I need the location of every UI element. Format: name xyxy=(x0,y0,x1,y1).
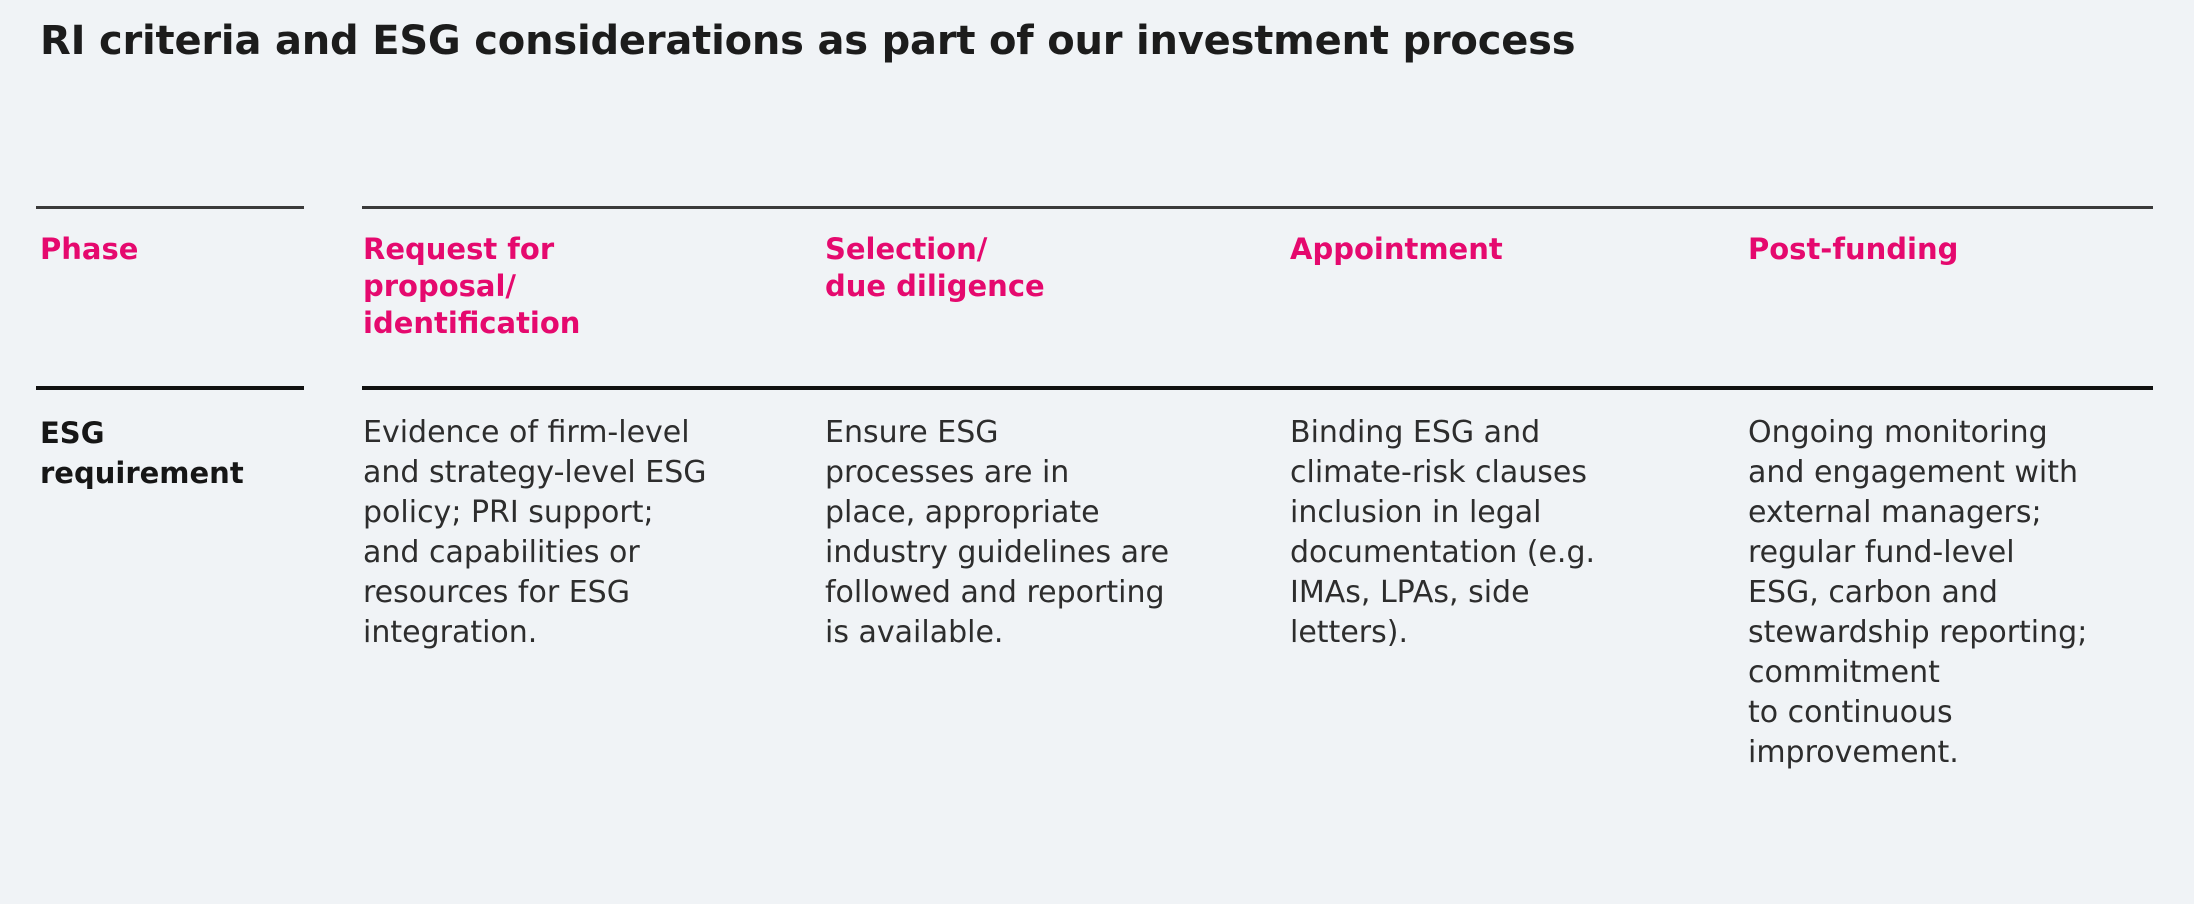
table-top-rule-phase-column xyxy=(36,206,304,209)
cell-esg-requirement-post-funding: Ongoing monitoring and engagement with e… xyxy=(1748,413,2168,773)
column-header-selection-due-diligence: Selection/ due diligence xyxy=(825,231,1265,305)
esg-criteria-table: Phase Request for proposal/ identificati… xyxy=(0,0,2194,904)
cell-esg-requirement-selection-due-diligence: Ensure ESG processes are in place, appro… xyxy=(825,413,1265,653)
column-header-phase: Phase xyxy=(40,231,340,268)
cell-esg-requirement-appointment: Binding ESG and climate-risk clauses inc… xyxy=(1290,413,1720,653)
slide-page: RI criteria and ESG considerations as pa… xyxy=(0,0,2194,904)
column-header-appointment: Appointment xyxy=(1290,231,1720,268)
table-header-rule-phase-column xyxy=(36,386,304,390)
column-header-request-for-proposal: Request for proposal/ identification xyxy=(363,231,803,342)
cell-esg-requirement-request-for-proposal: Evidence of firm-level and strategy-leve… xyxy=(363,413,803,653)
table-top-rule-phases xyxy=(362,206,2153,209)
row-label-esg-requirement: ESG requirement xyxy=(40,413,340,493)
column-header-post-funding: Post-funding xyxy=(1748,231,2168,268)
table-header-rule-phases xyxy=(362,386,2153,390)
